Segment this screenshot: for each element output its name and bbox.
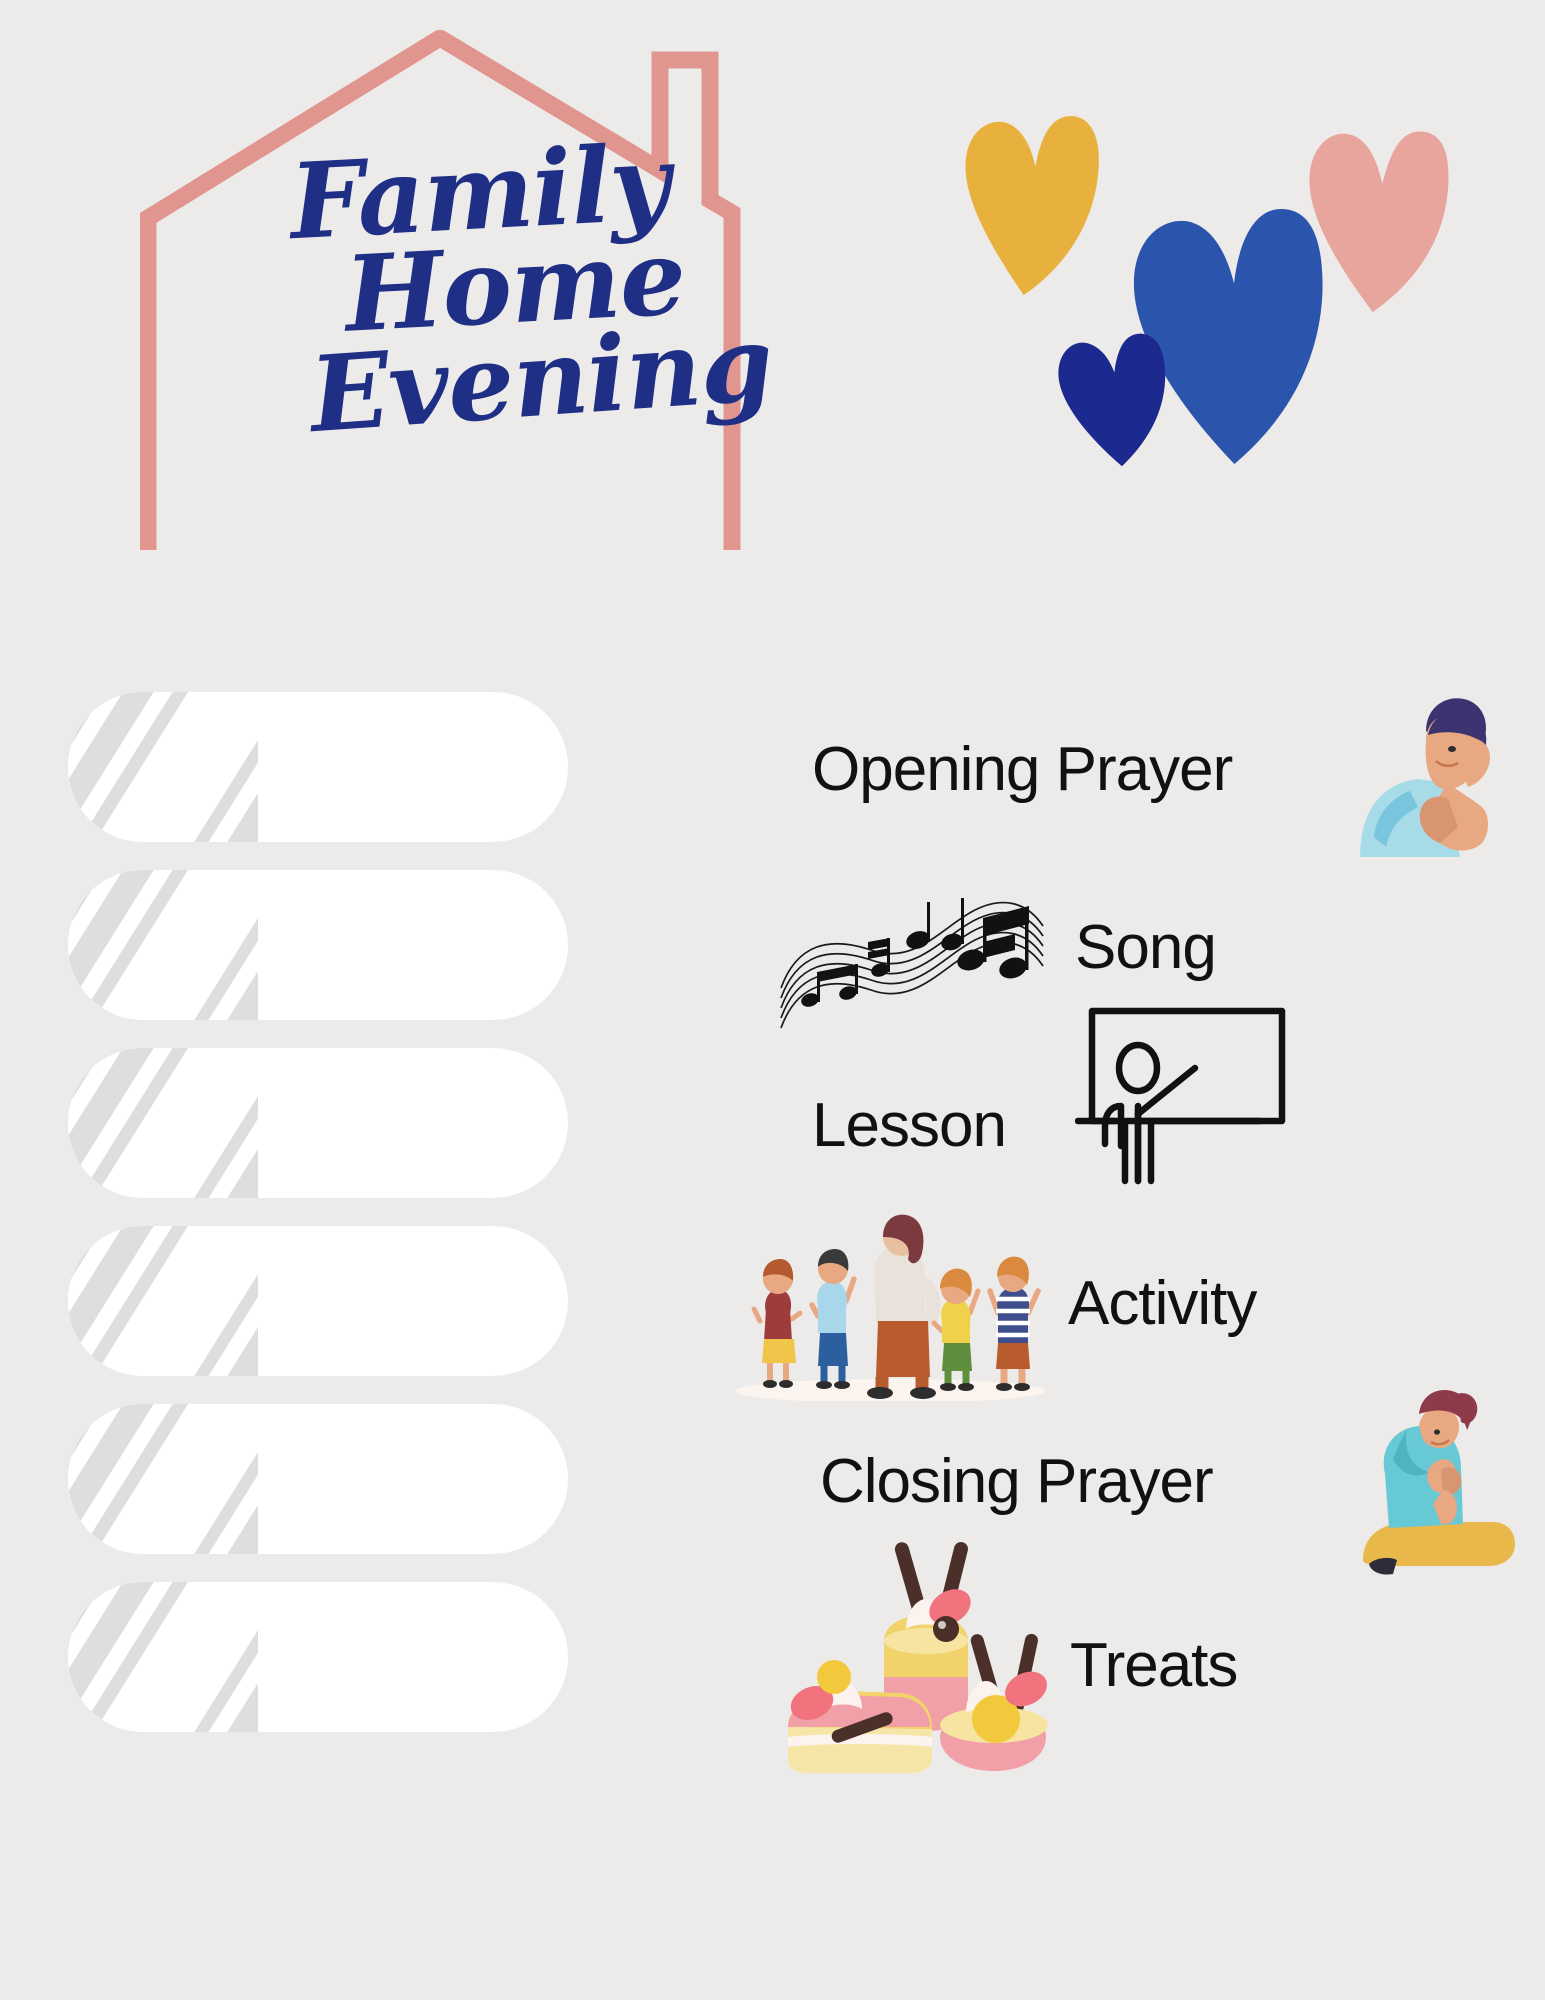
- family-home-evening-poster: Family Home Evening Opening Prayer: [0, 0, 1545, 2000]
- checklist-item-label: Closing Prayer: [820, 1446, 1213, 1517]
- checklist-row: Treats: [0, 1582, 1545, 1767]
- write-in-box[interactable]: [68, 1048, 568, 1198]
- stripe-decoration: [68, 1048, 258, 1198]
- write-in-box[interactable]: [68, 1404, 568, 1554]
- stripe-decoration: [68, 1582, 258, 1732]
- stripe-decoration: [68, 692, 258, 842]
- desserts-icon: [780, 1537, 1050, 1792]
- checklist-row: Activity: [0, 1226, 1545, 1411]
- checklist-row: Closing Prayer: [0, 1404, 1545, 1589]
- checklist-item-label: Song: [1075, 912, 1216, 983]
- stripe-decoration: [68, 1226, 258, 1376]
- kneeling-prayer-icon: [1345, 1364, 1525, 1594]
- checklist-item-label: Lesson: [812, 1090, 1006, 1161]
- checklist-row: Song: [0, 870, 1545, 1055]
- family-activity-icon: [730, 1201, 1050, 1401]
- write-in-box[interactable]: [68, 692, 568, 842]
- write-in-box[interactable]: [68, 870, 568, 1020]
- write-in-box[interactable]: [68, 1226, 568, 1376]
- write-in-box[interactable]: [68, 1582, 568, 1732]
- whiteboard-teacher-icon: [1075, 996, 1290, 1191]
- checklist-item-label: Treats: [1070, 1630, 1237, 1701]
- checklist-row: Opening Prayer: [0, 692, 1545, 877]
- checklist: Opening Prayer Song: [0, 0, 1545, 2000]
- music-notes-icon: [775, 880, 1050, 1035]
- checklist-item-label: Activity: [1068, 1268, 1256, 1339]
- stripe-decoration: [68, 1404, 258, 1554]
- praying-person-icon: [1340, 687, 1500, 862]
- stripe-decoration: [68, 870, 258, 1020]
- checklist-item-label: Opening Prayer: [812, 734, 1232, 805]
